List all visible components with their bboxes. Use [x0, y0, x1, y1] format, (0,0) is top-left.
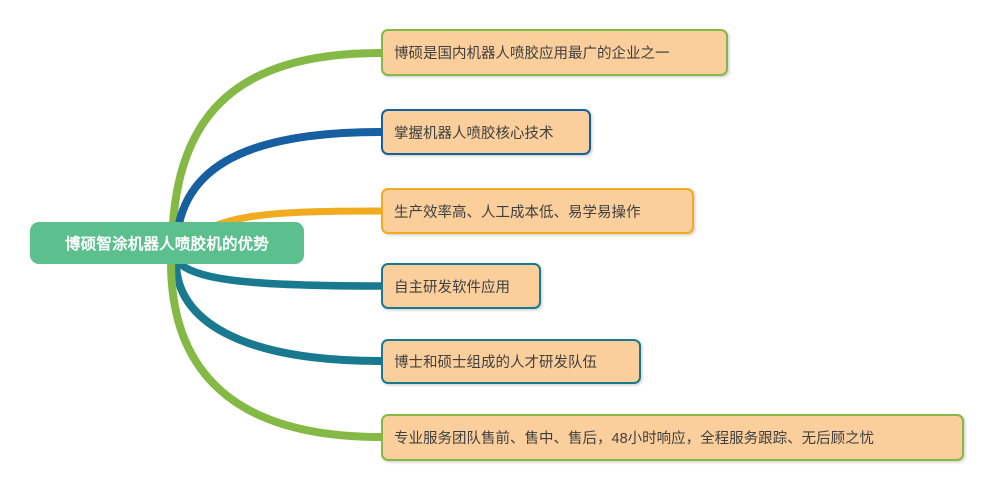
branch-node-1[interactable]: 博硕是国内机器人喷胶应用最广的企业之一	[381, 29, 728, 76]
branch-node-1-label: 博硕是国内机器人喷胶应用最广的企业之一	[394, 42, 670, 63]
branch-node-2-label: 掌握机器人喷胶核心技术	[394, 122, 554, 143]
branch-node-4-label: 自主研发软件应用	[394, 276, 510, 297]
branch-node-5-label: 博士和硕士组成的人才研发队伍	[394, 351, 597, 372]
branch-node-4[interactable]: 自主研发软件应用	[381, 263, 541, 309]
branch-node-6[interactable]: 专业服务团队售前、售中、售后，48小时响应，全程服务跟踪、无后顾之忧	[381, 414, 964, 461]
root-node[interactable]: 博硕智涂机器人喷胶机的优势	[30, 222, 304, 264]
branch-node-3[interactable]: 生产效率高、人工成本低、易学易操作	[381, 188, 694, 234]
connector-branch-5	[171, 262, 381, 437]
root-node-label: 博硕智涂机器人喷胶机的优势	[65, 232, 269, 254]
connector-branch-3	[180, 264, 381, 286]
branch-node-3-label: 生产效率高、人工成本低、易学易操作	[394, 201, 641, 222]
connector-branch-4	[176, 262, 381, 361]
branch-node-5[interactable]: 博士和硕士组成的人才研发队伍	[381, 339, 641, 384]
branch-node-2[interactable]: 掌握机器人喷胶核心技术	[381, 109, 591, 155]
branch-node-6-label: 专业服务团队售前、售中、售后，48小时响应，全程服务跟踪、无后顾之忧	[394, 427, 874, 448]
mindmap-canvas: 博硕智涂机器人喷胶机的优势 博硕是国内机器人喷胶应用最广的企业之一 掌握机器人喷…	[0, 0, 996, 492]
